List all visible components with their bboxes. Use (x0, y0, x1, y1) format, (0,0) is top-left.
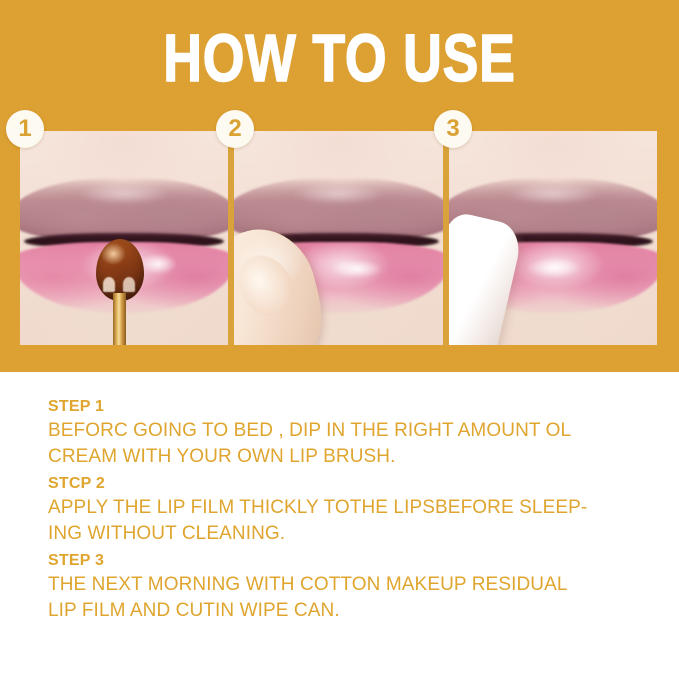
step-photo-2 (234, 131, 443, 345)
step-3-heading: STEP 3 (48, 550, 648, 571)
step-1-body: BEFORC GOING TO BED , DIP IN THE RIGHT A… (48, 418, 648, 470)
applicator-handle-icon (113, 293, 126, 345)
photo-strip (20, 131, 657, 345)
step-2-heading: STCP 2 (48, 473, 648, 494)
step-badge-3: 3 (434, 110, 472, 148)
step-3-body: THE NEXT MORNING WITH COTTON MAKEUP RESI… (48, 572, 648, 624)
page-title: HOW TO USE (68, 24, 611, 94)
step-1-heading: STEP 1 (48, 396, 648, 417)
lip-gloss-highlight (525, 257, 583, 279)
step-photo-3 (449, 131, 657, 345)
fingernail-icon (234, 246, 302, 324)
step-photo-1 (20, 131, 228, 345)
applicator-bead-icon (96, 239, 144, 301)
step-2-body: APPLY THE LIP FILM THICKLY TOTHE LIPSBEF… (48, 495, 648, 547)
step-badge-2: 2 (216, 110, 254, 148)
lip-gloss-highlight (330, 259, 384, 279)
lip-gloss-highlight (138, 253, 178, 275)
instructions-block: STEP 1 BEFORC GOING TO BED , DIP IN THE … (48, 396, 648, 624)
how-to-use-infographic: HOW TO USE (0, 0, 679, 679)
step-badge-1: 1 (6, 110, 44, 148)
